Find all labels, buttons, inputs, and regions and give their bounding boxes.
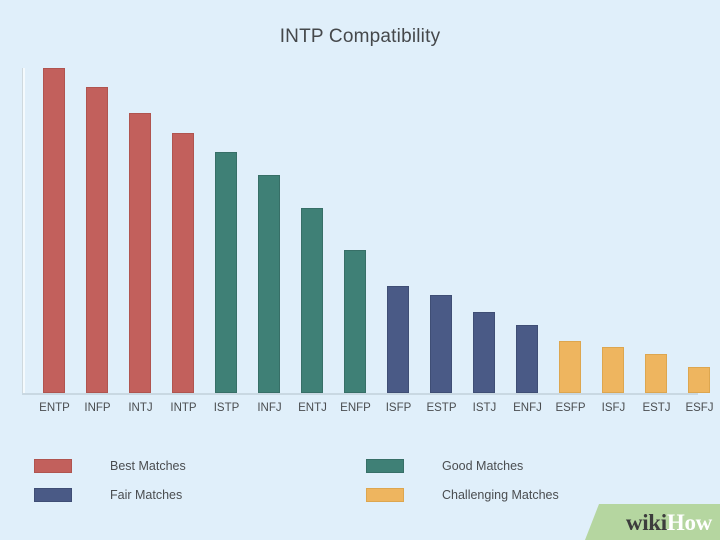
bar-slot bbox=[592, 68, 635, 393]
chart-legend: Best MatchesGood MatchesFair MatchesChal… bbox=[34, 455, 654, 515]
bar-slot bbox=[119, 68, 162, 393]
bar-istp[interactable] bbox=[215, 152, 237, 393]
legend-item-fair[interactable]: Fair Matches bbox=[34, 484, 182, 506]
x-label-infj: INFJ bbox=[248, 402, 291, 414]
x-label-intj: INTJ bbox=[119, 402, 162, 414]
legend-label-challenging: Challenging Matches bbox=[442, 488, 559, 502]
x-label-estp: ESTP bbox=[420, 402, 463, 414]
bar-enfj[interactable] bbox=[516, 325, 538, 393]
bar-estp[interactable] bbox=[430, 295, 452, 393]
legend-swatch-good bbox=[366, 459, 404, 473]
x-label-entp: ENTP bbox=[33, 402, 76, 414]
bar-slot bbox=[420, 68, 463, 393]
bars-layer bbox=[22, 68, 698, 393]
x-label-entj: ENTJ bbox=[291, 402, 334, 414]
bar-entp[interactable] bbox=[43, 68, 65, 393]
x-label-istj: ISTJ bbox=[463, 402, 506, 414]
watermark-how-text: How bbox=[667, 510, 712, 535]
legend-label-fair: Fair Matches bbox=[110, 488, 182, 502]
bar-slot bbox=[162, 68, 205, 393]
chart-container: INTP Compatibility ENTPINFPINTJINTPISTPI… bbox=[0, 0, 720, 540]
bar-infj[interactable] bbox=[258, 175, 280, 393]
legend-item-best[interactable]: Best Matches bbox=[34, 455, 186, 477]
bar-slot bbox=[678, 68, 720, 393]
x-label-estj: ESTJ bbox=[635, 402, 678, 414]
x-label-esfj: ESFJ bbox=[678, 402, 720, 414]
bar-slot bbox=[248, 68, 291, 393]
legend-swatch-fair bbox=[34, 488, 72, 502]
legend-label-good: Good Matches bbox=[442, 459, 523, 473]
bar-slot bbox=[549, 68, 592, 393]
x-label-isfj: ISFJ bbox=[592, 402, 635, 414]
bar-slot bbox=[33, 68, 76, 393]
x-label-infp: INFP bbox=[76, 402, 119, 414]
legend-item-good[interactable]: Good Matches bbox=[366, 455, 523, 477]
bar-esfp[interactable] bbox=[559, 341, 581, 393]
legend-swatch-best bbox=[34, 459, 72, 473]
legend-swatch-challenging bbox=[366, 488, 404, 502]
bar-istj[interactable] bbox=[473, 312, 495, 393]
bar-slot bbox=[635, 68, 678, 393]
x-axis-tick-labels: ENTPINFPINTJINTPISTPINFJENTJENFPISFPESTP… bbox=[22, 402, 698, 422]
bar-slot bbox=[205, 68, 248, 393]
bar-slot bbox=[377, 68, 420, 393]
x-axis-line bbox=[22, 393, 698, 395]
watermark-wiki-text: wiki bbox=[626, 510, 667, 535]
x-label-enfp: ENFP bbox=[334, 402, 377, 414]
bar-slot bbox=[291, 68, 334, 393]
plot-area bbox=[22, 68, 698, 394]
bar-estj[interactable] bbox=[645, 354, 667, 393]
bar-slot bbox=[76, 68, 119, 393]
bar-entj[interactable] bbox=[301, 208, 323, 393]
watermark-text: wikiHow bbox=[626, 510, 712, 536]
x-label-esfp: ESFP bbox=[549, 402, 592, 414]
bar-slot bbox=[334, 68, 377, 393]
bar-esfj[interactable] bbox=[688, 367, 710, 393]
chart-title: INTP Compatibility bbox=[0, 26, 720, 48]
bar-isfj[interactable] bbox=[602, 347, 624, 393]
bar-isfp[interactable] bbox=[387, 286, 409, 393]
x-label-enfj: ENFJ bbox=[506, 402, 549, 414]
bar-slot bbox=[463, 68, 506, 393]
x-label-isfp: ISFP bbox=[377, 402, 420, 414]
wikihow-watermark: wikiHow bbox=[585, 498, 720, 540]
bar-intp[interactable] bbox=[172, 133, 194, 393]
x-label-intp: INTP bbox=[162, 402, 205, 414]
bar-enfp[interactable] bbox=[344, 250, 366, 393]
bar-slot bbox=[506, 68, 549, 393]
bar-infp[interactable] bbox=[86, 87, 108, 393]
bar-intj[interactable] bbox=[129, 113, 151, 393]
legend-label-best: Best Matches bbox=[110, 459, 186, 473]
legend-item-challenging[interactable]: Challenging Matches bbox=[366, 484, 559, 506]
x-label-istp: ISTP bbox=[205, 402, 248, 414]
